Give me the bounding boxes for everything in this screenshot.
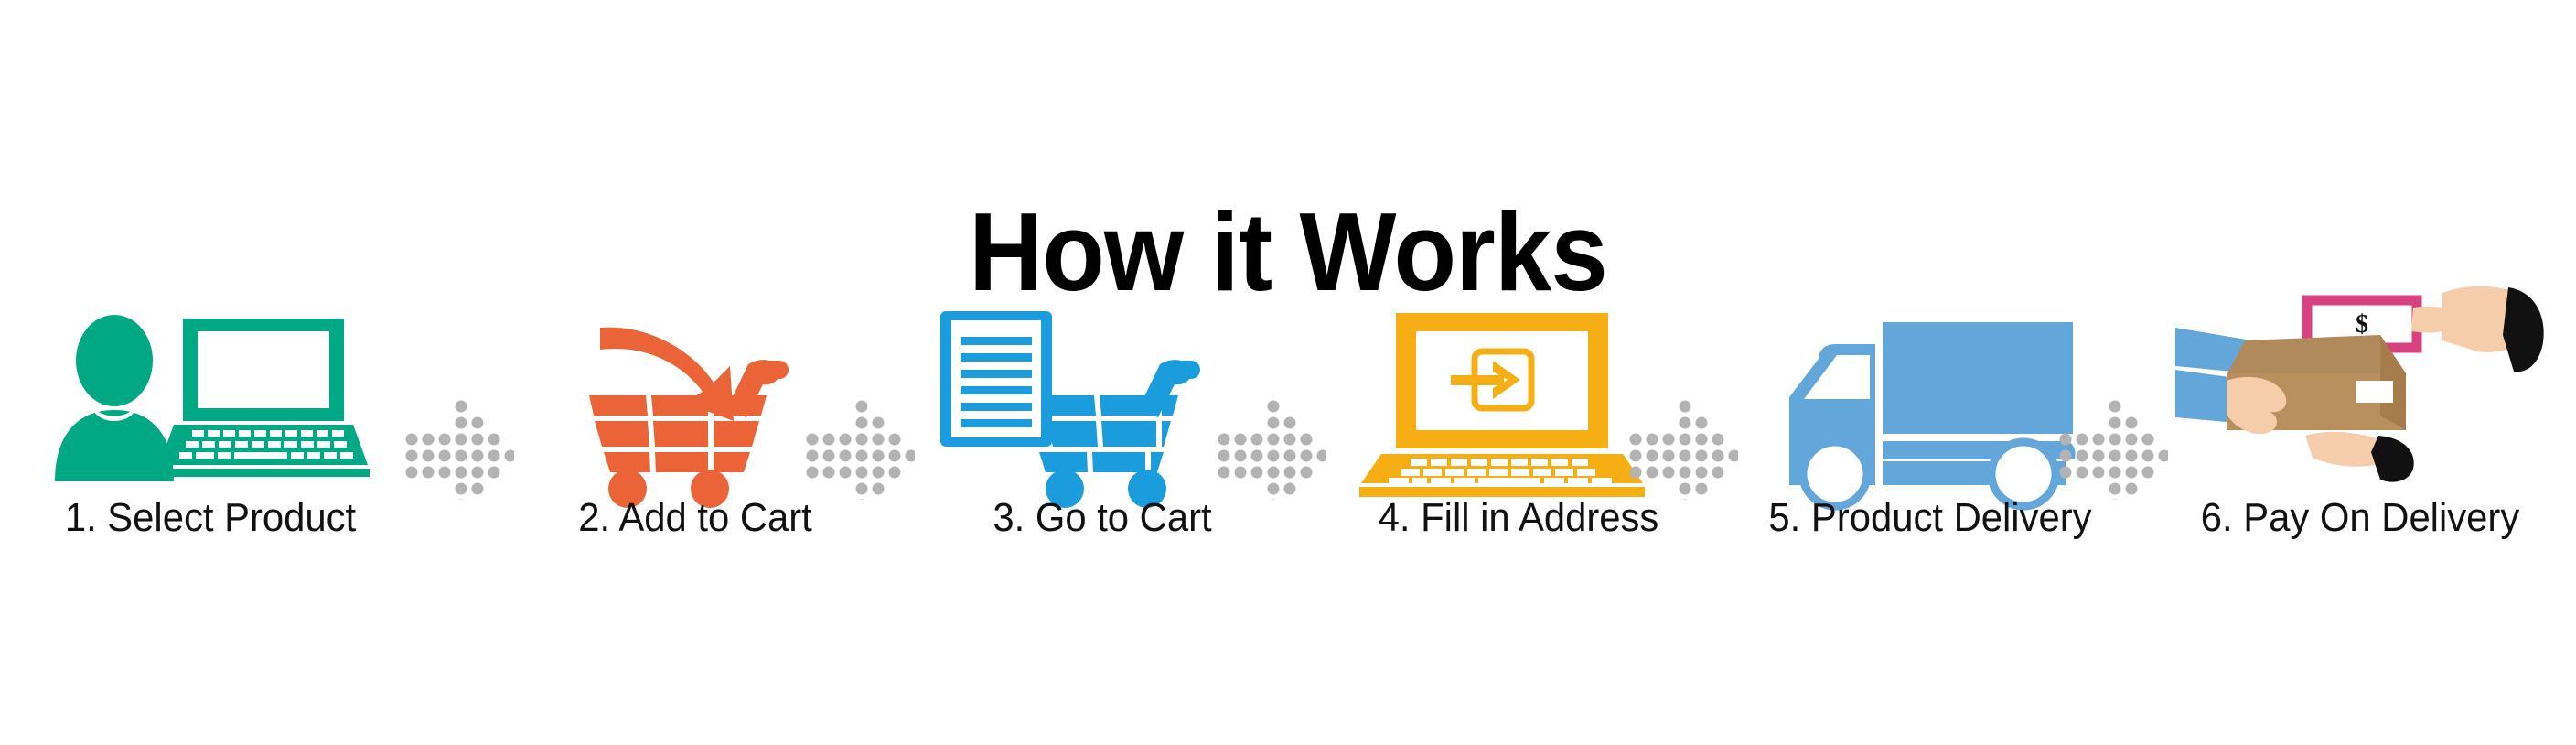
- hands-exchange-box-and-cash-icon: $: [2168, 278, 2552, 492]
- steps-row: 1. Select Product: [0, 308, 2576, 573]
- dotted-arrow-right-icon: [1619, 390, 1738, 500]
- step-6-pay-on-delivery[interactable]: $: [2168, 308, 2552, 573]
- infographic-canvas: How it Works: [0, 0, 2576, 745]
- step-4-label: 4. Fill in Address: [1354, 492, 1684, 544]
- page-title: How it Works: [103, 196, 2474, 308]
- step-6-label: 6. Pay On Delivery: [2178, 492, 2543, 544]
- step-3-label: 3. Go to Cart: [941, 492, 1263, 544]
- step-2-label: 2. Add to Cart: [539, 492, 852, 544]
- banknote-dollar-symbol: $: [2356, 310, 2368, 339]
- step-1-select-product[interactable]: 1. Select Product: [37, 308, 384, 573]
- dotted-arrow-right-icon: [395, 390, 514, 500]
- person-at-laptop-icon: [37, 308, 384, 491]
- step-1-label: 1. Select Product: [46, 492, 376, 544]
- dotted-arrow-right-icon: [2049, 390, 2168, 500]
- step-5-label: 5. Product Delivery: [1756, 492, 2104, 544]
- dotted-arrow-right-icon: [796, 390, 915, 500]
- dotted-arrow-right-icon: [1207, 390, 1326, 500]
